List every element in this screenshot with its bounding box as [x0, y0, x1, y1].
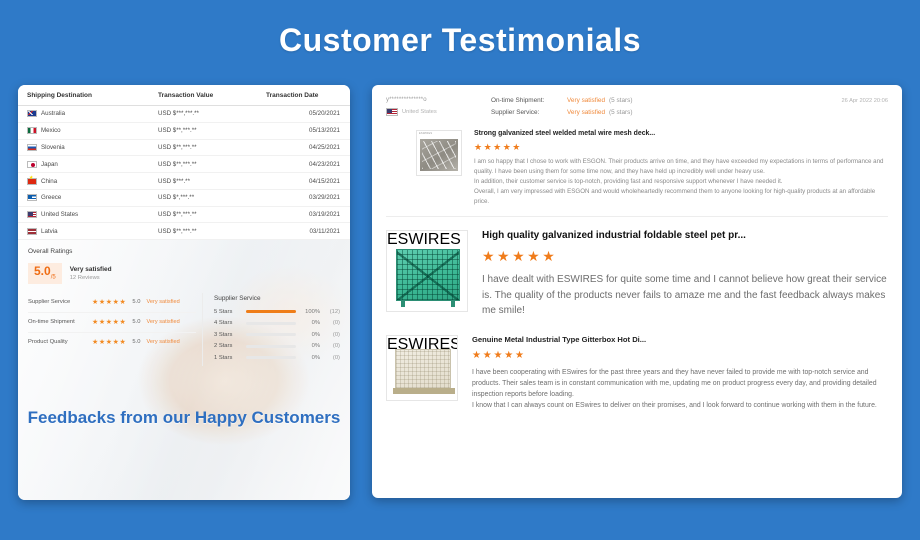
- overall-score-badge: 5.0/5: [28, 263, 62, 283]
- country-label: United States: [41, 211, 78, 218]
- cell-date: 05/13/2021: [266, 122, 350, 139]
- happy-customers-caption: Feedbacks from our Happy Customers: [18, 408, 350, 428]
- breakdown-count: (0): [324, 343, 340, 349]
- breakdown-percent: 0%: [300, 343, 320, 349]
- cell-value: USD $**,***.**: [158, 122, 266, 139]
- criteria-list: Supplier Service★★★★★5.0Very satisfiedOn…: [28, 293, 203, 367]
- flag-greece-icon: [27, 194, 37, 201]
- cell-destination: Greece: [18, 189, 158, 206]
- cell-date: 03/11/2021: [266, 223, 350, 240]
- table-row: SloveniaUSD $**,***.**04/25/2021: [18, 139, 350, 156]
- review-1-text: I am so happy that I chose to work with …: [474, 157, 888, 207]
- country-label: Slovenia: [41, 144, 65, 151]
- review-1-header: y**************o United States On-time S…: [386, 97, 888, 121]
- breakdown-label: 3 Stars: [214, 332, 242, 338]
- breakdown-percent: 0%: [300, 320, 320, 326]
- review-2-product-title[interactable]: High quality galvanized industrial folda…: [482, 230, 888, 241]
- country-label: Greece: [41, 194, 61, 201]
- breakdown-label: 5 Stars: [214, 309, 242, 315]
- criteria-row: Supplier Service★★★★★5.0Very satisfied: [28, 293, 196, 312]
- metric-on-time-shipment: On-time Shipment: Very satisfied (5 star…: [491, 97, 842, 104]
- cell-destination: Australia: [18, 106, 158, 123]
- review-3: ESWIRES Genuine Metal Industrial Type Gi…: [386, 335, 888, 411]
- review-divider: [386, 216, 888, 217]
- gitterbox-image: [395, 349, 451, 389]
- criteria-tag: Very satisfied: [146, 299, 179, 305]
- cell-value: USD $**,***.**: [158, 156, 266, 173]
- breakdown-bar: [246, 322, 296, 325]
- review-2: ESWIRES High quality galvanized industri…: [386, 230, 888, 319]
- country-label: Australia: [41, 110, 65, 117]
- thumbnail-watermark-2: ESWIRES: [387, 231, 461, 248]
- criteria-stars: ★★★★★: [92, 318, 126, 326]
- cell-date: 04/25/2021: [266, 139, 350, 156]
- breakdown-row: 2 Stars0%(0): [214, 343, 340, 349]
- table-row: MexicoUSD $**,***.**05/13/2021: [18, 122, 350, 139]
- cell-destination: Latvia: [18, 223, 158, 240]
- table-row: JapanUSD $**,***.**04/23/2021: [18, 156, 350, 173]
- cell-value: USD $***.**: [158, 173, 266, 190]
- review-1-stars: ★★★★★: [474, 142, 888, 153]
- breakdown-row: 3 Stars0%(0): [214, 332, 340, 338]
- breakdown-bar: [246, 333, 296, 336]
- table-row: AustraliaUSD $***,***.**05/20/2021: [18, 106, 350, 123]
- breakdown-bar: [246, 356, 296, 359]
- breakdown-percent: 0%: [300, 355, 320, 361]
- criteria-stars: ★★★★★: [92, 298, 126, 306]
- overall-score-text: Very satisfied 12 Reviews: [70, 266, 112, 281]
- breakdown-row: 4 Stars0%(0): [214, 320, 340, 326]
- cell-value: USD $**,***.**: [158, 139, 266, 156]
- rating-breakdown: Supplier Service 5 Stars100%(12)4 Stars0…: [203, 293, 340, 367]
- review-1-timestamp: 26 Apr 2022 20:06: [842, 97, 889, 104]
- flag-mexico-icon: [27, 127, 37, 134]
- breakdown-count: (0): [324, 332, 340, 338]
- breakdown-count: (12): [324, 309, 340, 315]
- reviewer-country: United States: [386, 108, 491, 116]
- cell-destination: United States: [18, 206, 158, 223]
- wire-mesh-deck-image: [420, 139, 458, 171]
- review-3-product-title[interactable]: Genuine Metal Industrial Type Gitterbox …: [472, 335, 888, 344]
- thumbnail-watermark-1: ESWIRES: [419, 132, 432, 135]
- metric-supplier-service: Supplier Service: Very satisfied (5 star…: [491, 109, 842, 116]
- breakdown-label: 2 Stars: [214, 343, 242, 349]
- ratings-section-title: Overall Ratings: [28, 248, 340, 255]
- overall-score-label: Very satisfied: [70, 266, 112, 273]
- overall-score-value: 5.0: [34, 264, 51, 278]
- flag-latvia-icon: [27, 228, 37, 235]
- breakdown-count: (0): [324, 320, 340, 326]
- transaction-table: Shipping Destination Transaction Value T…: [18, 85, 350, 240]
- review-1-metrics: On-time Shipment: Very satisfied (5 star…: [491, 97, 842, 121]
- column-header-date: Transaction Date: [266, 85, 350, 106]
- flag-united-states-icon: [27, 211, 37, 218]
- criteria-tag: Very satisfied: [146, 339, 179, 345]
- breakdown-label: 4 Stars: [214, 320, 242, 326]
- breakdown-bar: [246, 310, 296, 313]
- country-label: Mexico: [41, 127, 61, 134]
- review-3-text: I have been cooperating with ESwires for…: [472, 367, 888, 411]
- breakdown-label: 1 Stars: [214, 355, 242, 361]
- criteria-name: Product Quality: [28, 339, 86, 345]
- country-label: Japan: [41, 161, 58, 168]
- cell-value: USD $**,***.**: [158, 223, 266, 240]
- breakdown-row: 1 Stars0%(0): [214, 355, 340, 361]
- review-count: 12 Reviews: [70, 275, 112, 281]
- overall-score-row: 5.0/5 Very satisfied 12 Reviews: [28, 263, 340, 283]
- review-3-stars: ★★★★★: [472, 350, 888, 361]
- cell-date: 04/23/2021: [266, 156, 350, 173]
- cell-destination: Japan: [18, 156, 158, 173]
- criteria-name: Supplier Service: [28, 299, 86, 305]
- cell-value: USD $***,***.**: [158, 106, 266, 123]
- cell-date: 04/15/2021: [266, 173, 350, 190]
- product-thumbnail-1[interactable]: ESWIRES: [416, 130, 462, 176]
- flag-japan-icon: [27, 161, 37, 168]
- metric-sub: (5 stars): [609, 109, 632, 116]
- metric-label: Supplier Service:: [491, 109, 563, 116]
- criteria-row: Product Quality★★★★★5.0Very satisfied: [28, 332, 196, 352]
- review-1-body: ESWIRES Strong galvanized steel welded m…: [386, 130, 888, 207]
- column-header-value: Transaction Value: [158, 85, 266, 106]
- cell-destination: Mexico: [18, 122, 158, 139]
- criteria-tag: Very satisfied: [146, 319, 179, 325]
- cell-value: USD $**,***.**: [158, 206, 266, 223]
- green-wire-container-image: [396, 249, 460, 301]
- transaction-history-card: Shipping Destination Transaction Value T…: [18, 85, 350, 500]
- page-title: Customer Testimonials: [0, 0, 920, 59]
- cell-destination: Slovenia: [18, 139, 158, 156]
- cell-destination: China: [18, 173, 158, 190]
- table-row: United StatesUSD $**,***.**03/19/2021: [18, 206, 350, 223]
- criteria-stars: ★★★★★: [92, 338, 126, 346]
- breakdown-row: 5 Stars100%(12): [214, 309, 340, 315]
- flag-china-icon: [27, 178, 37, 185]
- breakdown-percent: 0%: [300, 332, 320, 338]
- overall-ratings-section: Overall Ratings 5.0/5 Very satisfied 12 …: [18, 240, 350, 366]
- reviewer-username: y**************o: [386, 97, 491, 103]
- country-label: Latvia: [41, 228, 58, 235]
- transaction-table-body: AustraliaUSD $***,***.**05/20/2021Mexico…: [18, 106, 350, 240]
- review-2-text: I have dealt with ESWIRES for quite some…: [482, 272, 888, 319]
- table-header-row: Shipping Destination Transaction Value T…: [18, 85, 350, 106]
- reviews-card: y**************o United States On-time S…: [372, 85, 902, 498]
- criteria-value: 5.0: [132, 339, 140, 345]
- table-row: ChinaUSD $***.**04/15/2021: [18, 173, 350, 190]
- criteria-row: On-time Shipment★★★★★5.0Very satisfied: [28, 312, 196, 332]
- table-row: GreeceUSD $*,***.**03/29/2021: [18, 189, 350, 206]
- breakdown-count: (0): [324, 355, 340, 361]
- flag-united-states-icon: [386, 108, 398, 116]
- breakdown-title: Supplier Service: [214, 295, 340, 302]
- cell-date: 03/29/2021: [266, 189, 350, 206]
- cell-value: USD $*,***.**: [158, 189, 266, 206]
- metric-label: On-time Shipment:: [491, 97, 563, 104]
- flag-slovenia-icon: [27, 144, 37, 151]
- flag-australia-icon: [27, 110, 37, 117]
- cell-date: 03/19/2021: [266, 206, 350, 223]
- country-label: China: [41, 178, 57, 185]
- product-thumbnail-3[interactable]: ESWIRES: [386, 335, 458, 401]
- column-header-destination: Shipping Destination: [18, 85, 158, 106]
- product-thumbnail-2[interactable]: ESWIRES: [386, 230, 468, 312]
- metric-value: Very satisfied: [567, 109, 605, 116]
- breakdown-bar: [246, 345, 296, 348]
- breakdown-percent: 100%: [300, 309, 320, 315]
- table-row: LatviaUSD $**,***.**03/11/2021: [18, 223, 350, 240]
- metric-sub: (5 stars): [609, 97, 632, 104]
- criteria-value: 5.0: [132, 299, 140, 305]
- overall-score-suffix: /5: [51, 275, 56, 281]
- criteria-value: 5.0: [132, 319, 140, 325]
- cell-date: 05/20/2021: [266, 106, 350, 123]
- criteria-name: On-time Shipment: [28, 319, 86, 325]
- reviewer-country-label: United States: [402, 109, 437, 115]
- review-1-product-title[interactable]: Strong galvanized steel welded metal wir…: [474, 130, 888, 137]
- metric-value: Very satisfied: [567, 97, 605, 104]
- review-2-stars: ★★★★★: [482, 248, 888, 265]
- reviewer-identity: y**************o United States: [386, 97, 491, 116]
